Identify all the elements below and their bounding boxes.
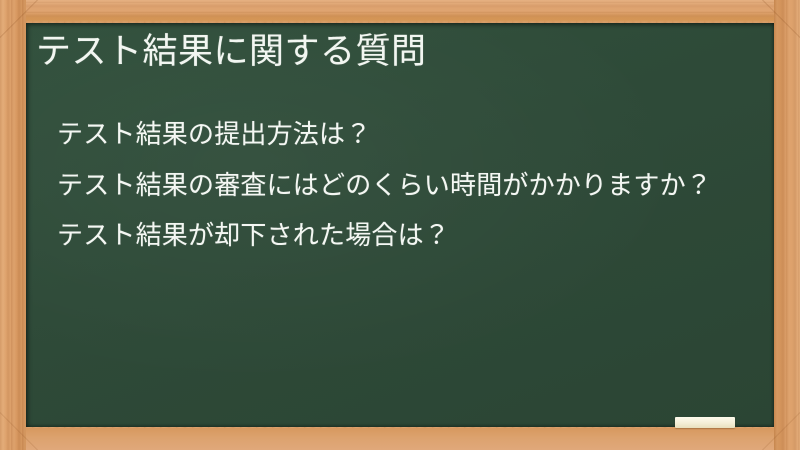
list-item: テスト結果の審査にはどのくらい時間がかかりますか？ (57, 169, 754, 204)
list-item: テスト結果が却下された場合は？ (57, 219, 754, 254)
chalkboard-content: テスト結果に関する質問 テスト結果の提出方法は？ テスト結果の審査にはどのくらい… (26, 23, 774, 427)
question-list: テスト結果の提出方法は？ テスト結果の審査にはどのくらい時間がかかりますか？ テ… (57, 118, 754, 254)
frame-top-rail (0, 0, 800, 23)
frame-left-rail (0, 0, 26, 450)
chalkboard-slide: テスト結果に関する質問 テスト結果の提出方法は？ テスト結果の審査にはどのくらい… (0, 0, 800, 450)
list-item: テスト結果の提出方法は？ (57, 118, 754, 153)
frame-right-rail (774, 0, 800, 450)
chalkboard-surface: テスト結果に関する質問 テスト結果の提出方法は？ テスト結果の審査にはどのくらい… (26, 23, 774, 427)
frame-bottom-ledge (0, 428, 800, 450)
chalk-stick-icon (675, 417, 735, 428)
slide-title: テスト結果に関する質問 (36, 31, 427, 75)
